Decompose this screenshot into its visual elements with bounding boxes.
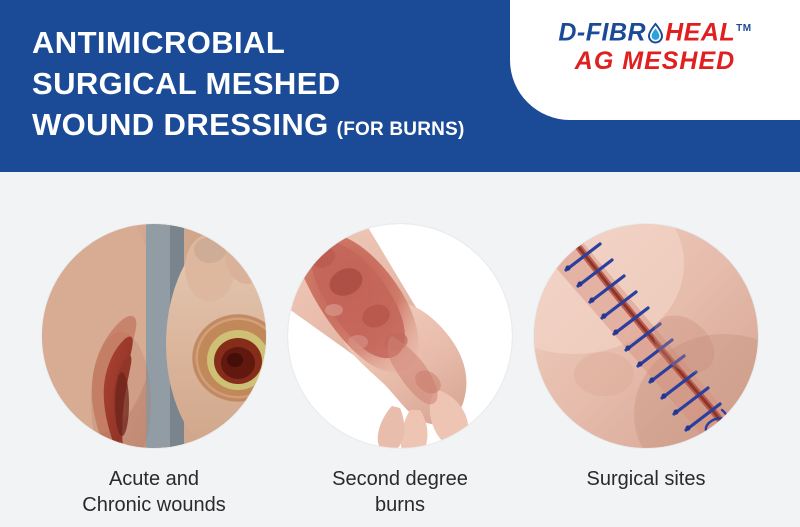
- caption-line-2: burns: [288, 492, 512, 518]
- card-surgical-sites: Surgical sites: [534, 224, 758, 492]
- page-title-suffix: (FOR BURNS): [337, 119, 465, 140]
- caption-line-1: Acute and: [42, 466, 266, 492]
- acute-chronic-wounds-photo: [42, 224, 266, 448]
- card-caption-second-degree-burns: Second degree burns: [288, 466, 512, 518]
- surgical-sites-photo: [534, 224, 758, 448]
- brand-name-part-2: HEAL: [665, 18, 735, 46]
- card-caption-acute-chronic-wounds: Acute and Chronic wounds: [42, 466, 266, 518]
- page-title-line-3: WOUND DRESSING(FOR BURNS): [32, 104, 552, 150]
- page-title-line-3-main: WOUND DRESSING: [32, 107, 329, 142]
- page-title-line-1: ANTIMICROBIAL: [32, 22, 552, 63]
- header-title-block: ANTIMICROBIAL SURGICAL MESHED WOUND DRES…: [32, 22, 552, 150]
- trademark-icon: TM: [736, 23, 751, 34]
- logo-plate: D-FIBRHEALTM AG MESHED: [510, 0, 800, 120]
- brand-name-part-1: D-FIBR: [558, 18, 646, 46]
- second-degree-burns-photo: [288, 224, 512, 448]
- card-second-degree-burns: Second degree burns: [288, 224, 512, 518]
- card-acute-chronic-wounds: Acute and Chronic wounds: [42, 224, 266, 518]
- header-banner: ANTIMICROBIAL SURGICAL MESHED WOUND DRES…: [0, 0, 800, 172]
- brand-logo-line-2: AG MESHED: [530, 47, 780, 75]
- caption-line-1: Surgical sites: [534, 466, 758, 492]
- caption-line-2: Chronic wounds: [42, 492, 266, 518]
- page-title-line-2: SURGICAL MESHED: [32, 63, 552, 104]
- content-area: Acute and Chronic wounds: [0, 172, 800, 527]
- caption-line-1: Second degree: [288, 466, 512, 492]
- brand-logo: D-FIBRHEALTM AG MESHED: [530, 14, 780, 75]
- card-caption-surgical-sites: Surgical sites: [534, 466, 758, 492]
- water-drop-icon: [647, 22, 664, 44]
- brand-logo-line-1: D-FIBRHEALTM: [530, 14, 780, 47]
